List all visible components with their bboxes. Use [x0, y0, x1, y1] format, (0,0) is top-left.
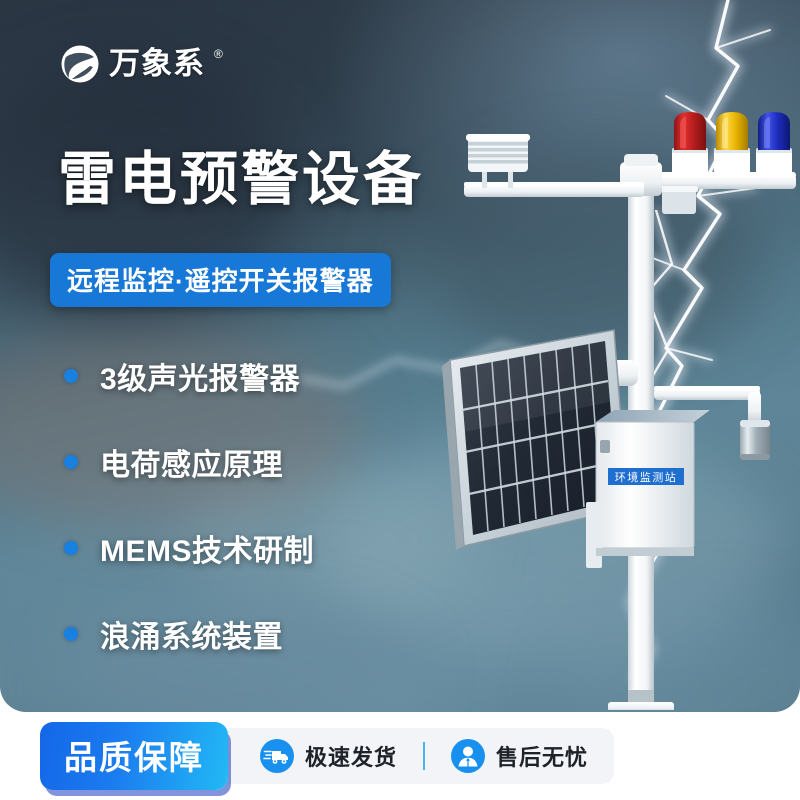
bullet-dot-icon [64, 541, 78, 555]
radiation-shield-sensor [466, 134, 530, 188]
environment-monitor-box: 环境监测站 [586, 410, 710, 568]
feature-label: 3级声光报警器 [100, 354, 300, 398]
page-title: 雷电预警设备 [58, 148, 424, 213]
page-subtitle: 远程监控·遥控开关报警器 [50, 253, 391, 307]
red-beacon-light [672, 112, 708, 176]
service-item-after-sales: 售后无忧 [451, 739, 588, 773]
list-item: MEMS技术研制 [64, 518, 314, 578]
trust-bar: 品质保障 极速发货 [0, 712, 800, 800]
yellow-beacon-light [714, 112, 750, 176]
quality-guarantee-badge: 品质保障 [40, 722, 228, 790]
hero-banner: 万象系 ® 雷电预警设备 远程监控·遥控开关报警器 3级声光报警器 电荷感应原理… [0, 0, 800, 712]
trademark-symbol: ® [214, 48, 223, 60]
box-label-text: 环境监测站 [615, 470, 678, 484]
delivery-truck-icon [260, 739, 294, 773]
service-divider [423, 742, 425, 770]
feature-list: 3级声光报警器 电荷感应原理 MEMS技术研制 浪涌系统装置 [64, 346, 314, 664]
brand-logo: 万象系 ® [60, 44, 223, 84]
service-label: 售后无忧 [496, 740, 588, 772]
bullet-dot-icon [64, 455, 78, 469]
feature-label: 电荷感应原理 [100, 440, 283, 484]
brand-name: 万象系 [109, 44, 205, 84]
product-image: 环境监测站 [410, 110, 800, 710]
cylindrical-sensor [740, 420, 770, 460]
bullet-dot-icon [64, 627, 78, 641]
service-item-fast-shipping: 极速发货 [260, 739, 397, 773]
feature-label: 浪涌系统装置 [100, 612, 283, 656]
bullet-dot-icon [64, 369, 78, 383]
list-item: 浪涌系统装置 [64, 604, 314, 664]
swoosh-circle-logo-icon [60, 44, 100, 84]
service-label: 极速发货 [305, 740, 397, 772]
blue-beacon-light [756, 112, 792, 176]
list-item: 3级声光报警器 [64, 346, 314, 406]
service-pill: 极速发货 售后无忧 [214, 728, 614, 784]
customer-service-agent-icon [451, 739, 485, 773]
list-item: 电荷感应原理 [64, 432, 314, 492]
feature-label: MEMS技术研制 [100, 526, 314, 570]
